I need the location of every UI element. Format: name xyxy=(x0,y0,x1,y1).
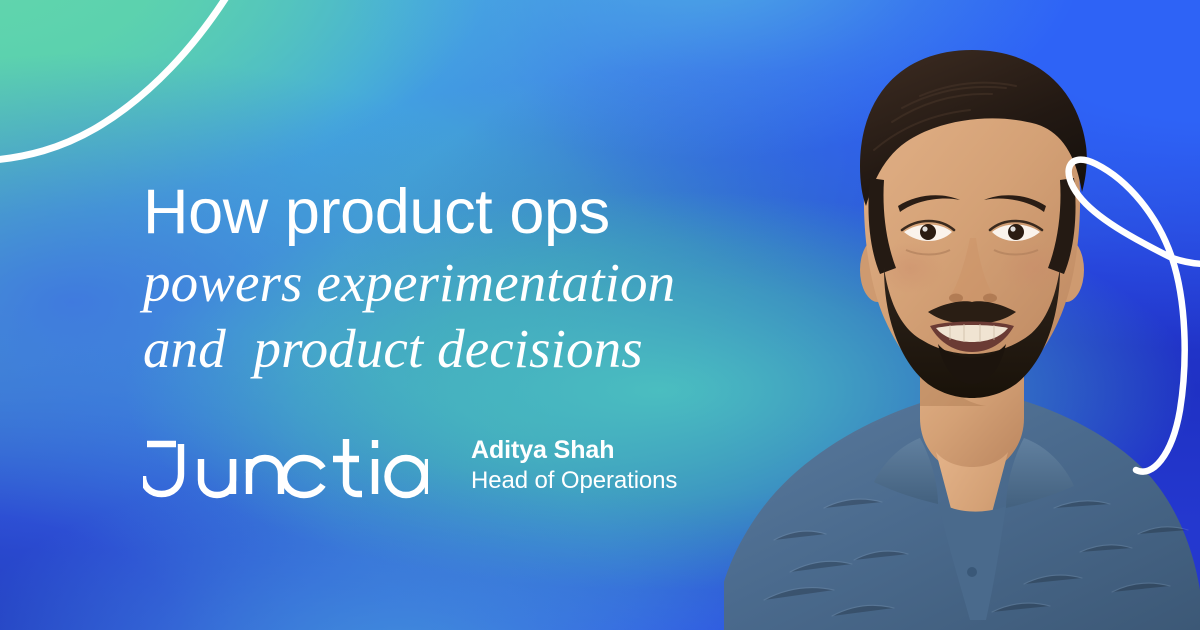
speaker-role: Head of Operations xyxy=(471,466,677,496)
speaker-info: Aditya Shah Head of Operations xyxy=(471,435,677,498)
speaker-name: Aditya Shah xyxy=(471,435,677,466)
headline-line-2: powers experimentation xyxy=(143,250,803,316)
footer-row: Aditya Shah Head of Operations xyxy=(143,431,677,501)
junction-wordmark-logo[interactable] xyxy=(143,431,428,501)
headline-line-3: and product decisions xyxy=(143,316,803,382)
promo-card: How product ops powers experimentation a… xyxy=(0,0,1200,630)
content-column: How product ops powers experimentation a… xyxy=(143,0,803,630)
headline-line-1: How product ops xyxy=(143,176,803,248)
page-title: How product ops powers experimentation a… xyxy=(143,176,803,382)
